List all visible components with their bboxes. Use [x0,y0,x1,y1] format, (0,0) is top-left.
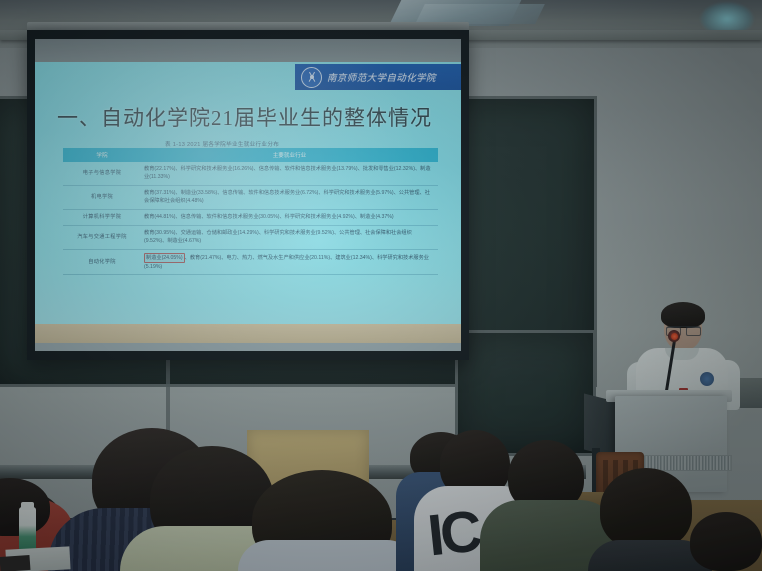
table-row: 汽车与交通工程学院 教育(30.95%)、交通运输、仓储和邮政业(14.29%)… [63,225,438,249]
table-cell-industries: 教育(44.81%)、信息传输、软件和信息技术服务业(30.05%)、科学研究和… [141,209,438,225]
audience-head [600,468,692,550]
table-row: 计算机科学学院 教育(44.81%)、信息传输、软件和信息技术服务业(30.05… [63,209,438,225]
microphone-led-icon [671,333,678,340]
table-cell-college: 电子与信息学院 [63,162,141,185]
lecture-hall-photo: 南京师范大学自动化学院 一、自动化学院21届毕业生的整体情况 表 1-13 20… [0,0,762,571]
table-cell-industries: 教育(30.95%)、交通运输、仓储和邮政业(14.29%)、科学研究和技术服务… [141,225,438,249]
table-row-highlighted: 自动化学院 制造业(24.05%)、教育(21.47%)、电力、热力、燃气及水生… [63,249,438,275]
notebook [0,555,30,571]
screen-top-band [35,39,461,62]
presenter-hair [661,302,705,328]
table-cell-industries: 制造业(24.05%)、教育(21.47%)、电力、热力、燃气及水生产和供应业(… [141,249,438,275]
table-row: 电子与信息学院 教育(22.17%)、科学研究和技术服务业(16.26%)、信息… [63,162,438,185]
projection-screen-surface: 南京师范大学自动化学院 一、自动化学院21届毕业生的整体情况 表 1-13 20… [35,39,461,351]
shirt-graphic: IC [425,498,482,570]
employment-distribution-table: 学院 主要就业行业 电子与信息学院 教育(22.17%)、科学研究和技术服务业(… [63,148,438,275]
slide-title: 一、自动化学院21届毕业生的整体情况 [57,102,432,132]
bottle-cap [21,502,34,510]
fluorescent-tube-light [415,4,545,24]
projection-screen-frame: 南京师范大学自动化学院 一、自动化学院21届毕业生的整体情况 表 1-13 20… [27,30,469,360]
university-emblem-icon [301,67,322,88]
audience-person-collar [238,540,418,571]
table-cell-industries: 教育(37.31%)、制造业(33.58%)、信息传输、软件和信息技术服务业(6… [141,185,438,209]
slide-logo-bar: 南京师范大学自动化学院 [295,64,461,90]
table-cell-college: 机电学院 [63,185,141,209]
table-cell-college: 自动化学院 [63,249,141,275]
slide-bottom-band [35,324,461,343]
highlight-box: 制造业(24.05%) [144,253,185,263]
table-header-row: 学院 主要就业行业 [63,148,438,162]
table-row: 机电学院 教育(37.31%)、制造业(33.58%)、信息传输、软件和信息技术… [63,185,438,209]
projected-slide: 南京师范大学自动化学院 一、自动化学院21届毕业生的整体情况 表 1-13 20… [35,62,461,324]
table-header-industries: 主要就业行业 [141,148,438,162]
shirt-logo-icon [700,372,714,386]
screen-unlit-area [35,343,461,351]
slide-logo-text: 南京师范大学自动化学院 [327,70,436,84]
audience-head [690,512,762,571]
table-cell-industries: 教育(22.17%)、科学研究和技术服务业(16.26%)、信息传输、软件和信息… [141,162,438,185]
table-header-college: 学院 [63,148,141,162]
table-cell-industries-text: 、教育(21.47%)、电力、热力、燃气及水生产和供应业(20.11%)、建筑业… [144,255,429,270]
slide-table-caption: 表 1-13 2021 届各学院毕业生就业行业分布 [165,140,279,148]
table-cell-college: 汽车与交通工程学院 [63,225,141,249]
table-cell-college: 计算机科学学院 [63,209,141,225]
